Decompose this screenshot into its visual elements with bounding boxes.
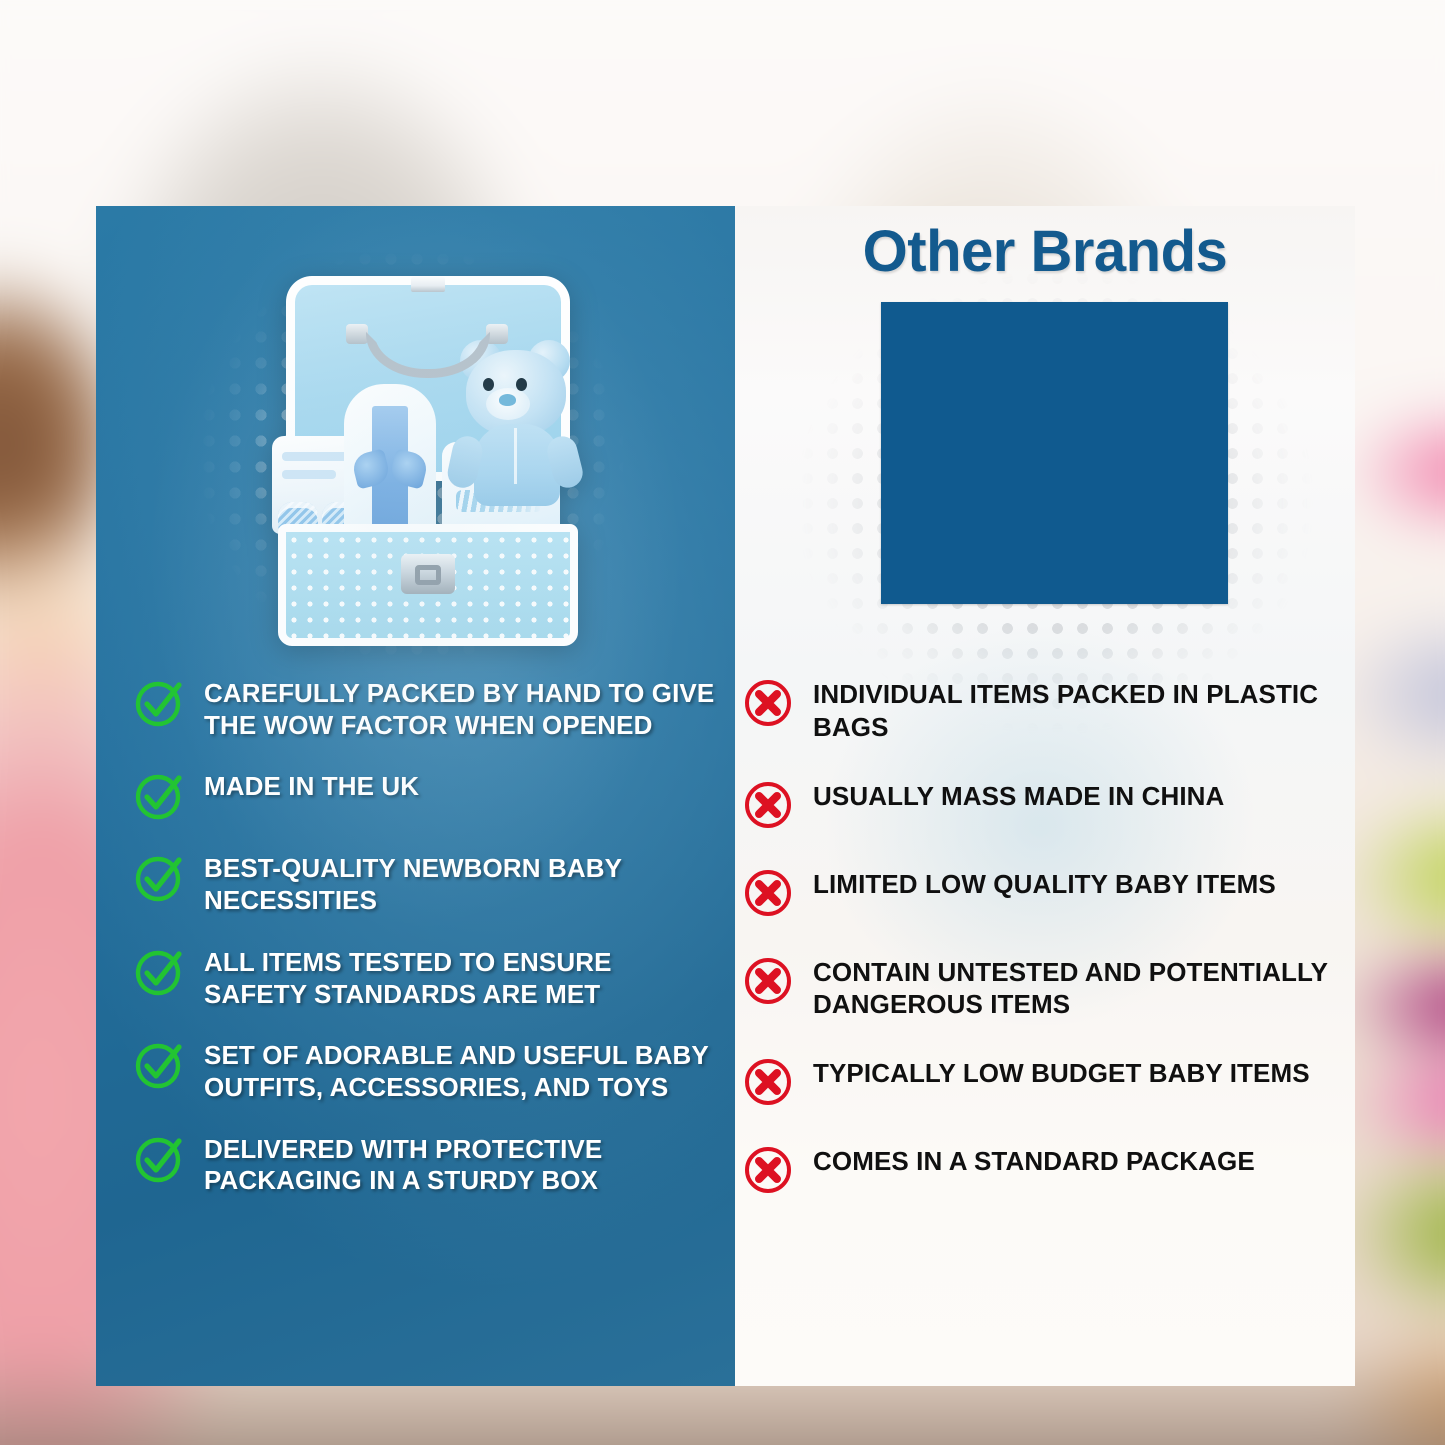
list-item-label: CONTAIN UNTESTED AND POTENTIALLY DANGERO… bbox=[813, 952, 1341, 1022]
other-brands-image-placeholder bbox=[881, 302, 1228, 604]
list-item: DELIVERED WITH PROTECTIVE PACKAGING IN A… bbox=[132, 1130, 719, 1197]
list-item: INDIVIDUAL ITEMS PACKED IN PLASTIC BAGS bbox=[741, 674, 1341, 744]
check-circle-icon bbox=[132, 769, 186, 823]
infographic-root: CAREFULLY PACKED BY HAND TO GIVE THE WOW… bbox=[0, 0, 1445, 1445]
other-brands-drawbacks-list: INDIVIDUAL ITEMS PACKED IN PLASTIC BAGS … bbox=[741, 674, 1341, 1229]
x-circle-icon bbox=[741, 866, 795, 920]
brand-panel: CAREFULLY PACKED BY HAND TO GIVE THE WOW… bbox=[96, 206, 735, 1386]
list-item-label: BEST-QUALITY NEWBORN BABY NECESSITIES bbox=[204, 849, 719, 916]
list-item: USUALLY MASS MADE IN CHINA bbox=[741, 776, 1341, 832]
list-item: SET OF ADORABLE AND USEFUL BABY OUTFITS,… bbox=[132, 1036, 719, 1103]
list-item-label: ALL ITEMS TESTED TO ENSURE SAFETY STANDA… bbox=[204, 943, 719, 1010]
list-item: ALL ITEMS TESTED TO ENSURE SAFETY STANDA… bbox=[132, 943, 719, 1010]
list-item-label: COMES IN A STANDARD PACKAGE bbox=[813, 1141, 1255, 1178]
check-circle-icon bbox=[132, 945, 186, 999]
list-item: COMES IN A STANDARD PACKAGE bbox=[741, 1141, 1341, 1197]
other-brands-panel: Other Brands INDIVIDUAL ITEMS PACKED IN … bbox=[735, 206, 1355, 1386]
check-circle-icon bbox=[132, 1038, 186, 1092]
page-title: Other Brands bbox=[735, 206, 1355, 285]
x-circle-icon bbox=[741, 778, 795, 832]
brand-benefits-list: CAREFULLY PACKED BY HAND TO GIVE THE WOW… bbox=[132, 674, 719, 1223]
check-circle-icon bbox=[132, 851, 186, 905]
list-item: CONTAIN UNTESTED AND POTENTIALLY DANGERO… bbox=[741, 952, 1341, 1022]
list-item: MADE IN THE UK bbox=[132, 767, 719, 823]
x-circle-icon bbox=[741, 676, 795, 730]
list-item-label: TYPICALLY LOW BUDGET BABY ITEMS bbox=[813, 1053, 1310, 1090]
list-item: LIMITED LOW QUALITY BABY ITEMS bbox=[741, 864, 1341, 920]
x-circle-icon bbox=[741, 954, 795, 1008]
list-item-label: LIMITED LOW QUALITY BABY ITEMS bbox=[813, 864, 1276, 901]
x-circle-icon bbox=[741, 1143, 795, 1197]
list-item-label: MADE IN THE UK bbox=[204, 767, 419, 803]
x-circle-icon bbox=[741, 1055, 795, 1109]
list-item: CAREFULLY PACKED BY HAND TO GIVE THE WOW… bbox=[132, 674, 719, 741]
comparison-card: CAREFULLY PACKED BY HAND TO GIVE THE WOW… bbox=[96, 206, 1355, 1386]
list-item-label: DELIVERED WITH PROTECTIVE PACKAGING IN A… bbox=[204, 1130, 719, 1197]
list-item-label: SET OF ADORABLE AND USEFUL BABY OUTFITS,… bbox=[204, 1036, 719, 1103]
list-item: BEST-QUALITY NEWBORN BABY NECESSITIES bbox=[132, 849, 719, 916]
check-circle-icon bbox=[132, 676, 186, 730]
check-circle-icon bbox=[132, 1132, 186, 1186]
list-item: TYPICALLY LOW BUDGET BABY ITEMS bbox=[741, 1053, 1341, 1109]
list-item-label: CAREFULLY PACKED BY HAND TO GIVE THE WOW… bbox=[204, 674, 719, 741]
list-item-label: INDIVIDUAL ITEMS PACKED IN PLASTIC BAGS bbox=[813, 674, 1341, 744]
list-item-label: USUALLY MASS MADE IN CHINA bbox=[813, 776, 1224, 813]
product-image-baby-gift-case bbox=[268, 276, 588, 646]
